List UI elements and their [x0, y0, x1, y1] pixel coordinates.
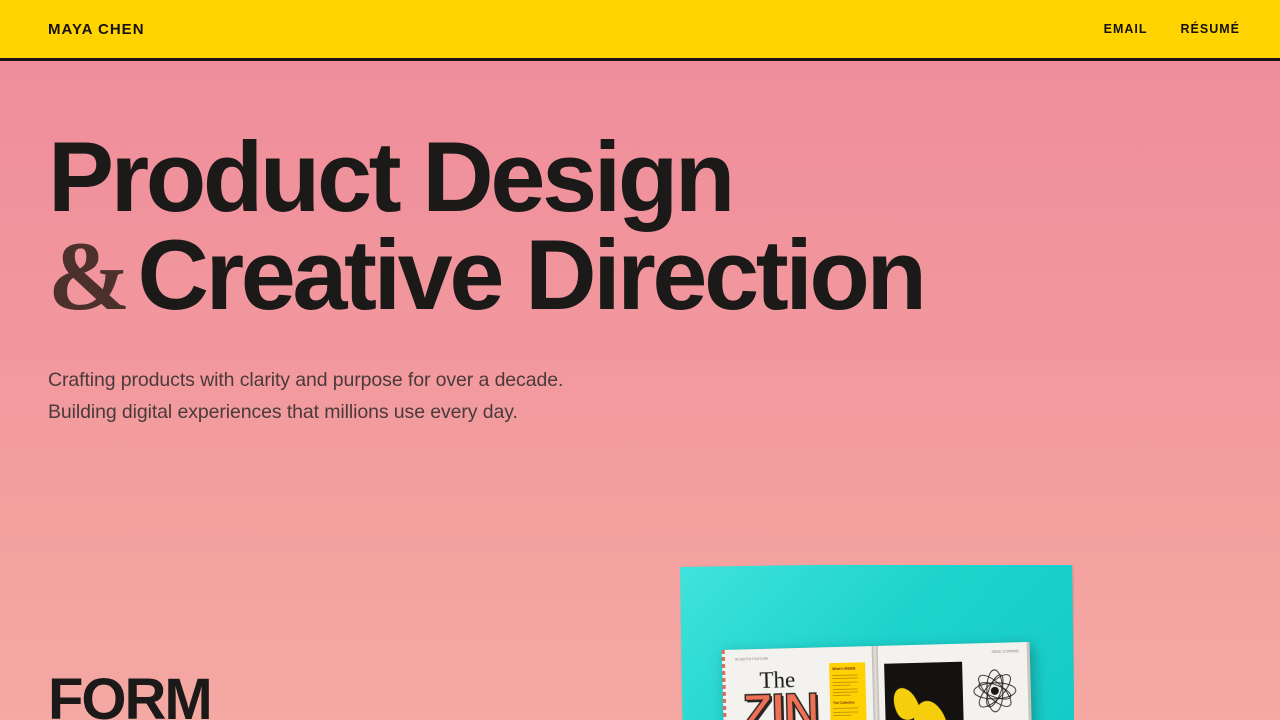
- text-line: [833, 708, 858, 710]
- page-title: Product Design &Creative Direction: [48, 128, 1280, 325]
- yellow-column-subheading: The Collective: [833, 701, 863, 706]
- text-line: [833, 685, 851, 686]
- text-line: [833, 695, 851, 696]
- nav-link-email[interactable]: EMAIL: [1104, 23, 1148, 36]
- brand-logo[interactable]: MAYA CHEN: [48, 22, 145, 37]
- magazine-masthead-zin: ZIN: [742, 685, 819, 720]
- page-edge-stripe: [722, 650, 728, 720]
- text-line: [832, 674, 857, 676]
- primary-navigation: EMAIL RÉSUMÉ: [1104, 23, 1240, 36]
- magazine-page-left: IN DEPTH FEATURE The ZIN What's INSIDE T…: [722, 646, 877, 720]
- text-line: [833, 681, 858, 683]
- hero-title-line-2-text: Creative Direction: [137, 219, 923, 330]
- magazine-page-right: ISSUE 12 SPRING: [878, 642, 1033, 720]
- magazine-folio: ISSUE 12 SPRING: [992, 649, 1019, 655]
- ampersand-glyph: &: [48, 222, 137, 331]
- hero-title-line-1: Product Design: [48, 128, 1280, 226]
- nav-link-resume[interactable]: RÉSUMÉ: [1181, 23, 1240, 36]
- hero-subtitle-line-2: Building digital experiences that millio…: [48, 396, 1280, 428]
- site-header: MAYA CHEN EMAIL RÉSUMÉ: [0, 0, 1280, 61]
- section-heading-form: FORM: [48, 671, 211, 720]
- hero-section: Product Design &Creative Direction Craft…: [0, 61, 1280, 429]
- hero-subtitle-line-1: Crafting products with clarity and purpo…: [48, 364, 1280, 396]
- text-line: [832, 678, 857, 680]
- text-line: [833, 711, 858, 713]
- text-line: [833, 715, 851, 716]
- hero-title-line-2: &Creative Direction: [48, 226, 1280, 326]
- hero-subtitle: Crafting products with clarity and purpo…: [48, 364, 1280, 429]
- magazine-yellow-column: What's INSIDE The Collective: [829, 662, 868, 720]
- atom-diagram-icon: [970, 666, 1019, 715]
- zine-photograph: IN DEPTH FEATURE The ZIN What's INSIDE T…: [680, 565, 1074, 720]
- zine-teal-backdrop: IN DEPTH FEATURE The ZIN What's INSIDE T…: [680, 565, 1074, 720]
- magazine-black-panel: [884, 662, 965, 720]
- magazine-kicker: IN DEPTH FEATURE: [735, 657, 769, 663]
- text-line: [833, 688, 858, 690]
- portfolio-landing-page: MAYA CHEN EMAIL RÉSUMÉ Product Design &C…: [0, 0, 1280, 720]
- yellow-column-heading: What's INSIDE: [832, 666, 862, 672]
- open-magazine: IN DEPTH FEATURE The ZIN What's INSIDE T…: [722, 642, 1037, 720]
- text-line: [833, 691, 858, 693]
